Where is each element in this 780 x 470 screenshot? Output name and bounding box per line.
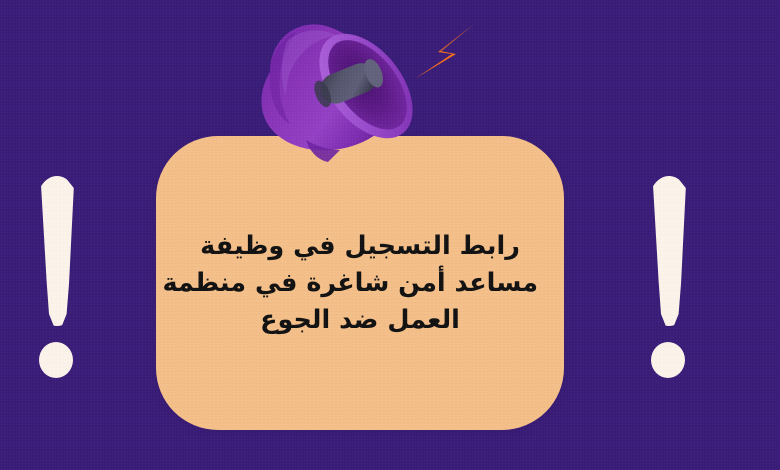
exclamation-dot [39,342,73,378]
headline-line-1: رابط التسجيل في وظيفة [182,228,538,265]
headline-line-2: مساعد أمن شاغرة في منظمة [182,265,538,302]
exclamation-mark-left-icon [35,176,79,381]
lightning-bolt-icon [410,18,478,82]
exclamation-mark-right-icon [647,176,691,381]
headline-text: رابط التسجيل في وظيفة مساعد أمن شاغرة في… [156,228,564,339]
headline-line-3: العمل ضد الجوع [182,302,538,339]
exclamation-stem [37,176,77,326]
announcement-poster: رابط التسجيل في وظيفة مساعد أمن شاغرة في… [0,0,780,470]
exclamation-dot [651,342,685,378]
exclamation-stem [649,176,689,326]
